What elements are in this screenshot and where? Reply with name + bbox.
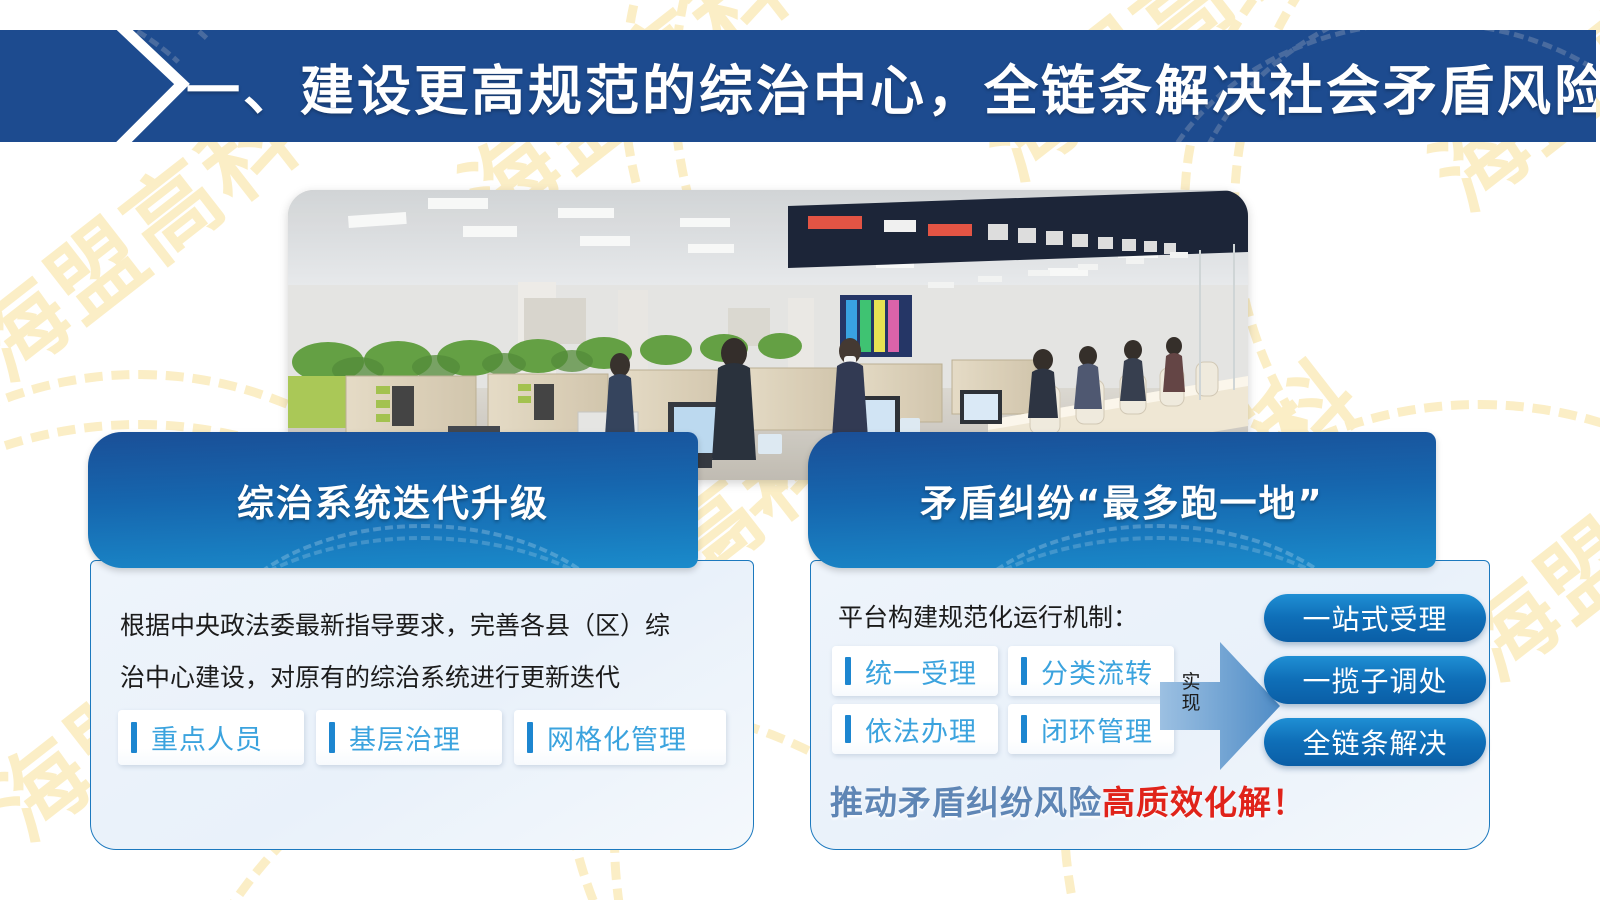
chip-key-personnel[interactable]: 重点人员 — [118, 710, 304, 765]
pill-label: 一站式受理 — [1302, 598, 1447, 638]
chip-accent-bar — [1021, 715, 1027, 743]
arrow-label: 实现 — [1180, 672, 1202, 714]
card-right: 矛盾纠纷“最多跑一地” 平台构建规范化运行机制： 统一受理 分类流转 依法办理 … — [808, 432, 1498, 852]
chip-lawful-handling[interactable]: 依法办理 — [832, 704, 998, 754]
right-arrow-icon — [1158, 640, 1282, 772]
pill-label: 全链条解决 — [1302, 722, 1447, 762]
pill-label: 一揽子调处 — [1302, 660, 1447, 700]
card-left-paragraph: 根据中央政法委最新指导要求，完善各县（区）综 治中心建设，对原有的综治系统进行更… — [120, 600, 728, 704]
chip-label: 依法办理 — [865, 710, 977, 749]
chip-label: 统一受理 — [865, 652, 977, 691]
chip-label: 基层治理 — [349, 718, 461, 757]
pill-one-stop-acceptance[interactable]: 一站式受理 — [1264, 594, 1486, 642]
chip-accent-bar — [1021, 657, 1027, 685]
slogan-accent: 高质效化解！ — [1102, 783, 1306, 822]
chip-accent-bar — [845, 657, 851, 685]
pill-package-mediation[interactable]: 一揽子调处 — [1264, 656, 1486, 704]
card-left-title: 综治系统迭代升级 — [237, 473, 549, 527]
chip-label: 分类流转 — [1041, 652, 1153, 691]
card-left-paragraph-line: 治中心建设，对原有的综治系统进行更新迭代 — [120, 652, 728, 704]
chip-accent-bar — [131, 722, 137, 753]
chip-label: 重点人员 — [151, 718, 263, 757]
chip-accent-bar — [845, 715, 851, 743]
chip-label: 闭环管理 — [1041, 710, 1153, 749]
card-left-paragraph-line: 根据中央政法委最新指导要求，完善各县（区）综 — [120, 600, 728, 652]
chip-classified-routing[interactable]: 分类流转 — [1008, 646, 1174, 696]
pill-full-chain-resolution[interactable]: 全链条解决 — [1264, 718, 1486, 766]
card-left: 综治系统迭代升级 根据中央政法委最新指导要求，完善各县（区）综 治中心建设，对原… — [88, 432, 756, 852]
card-right-lead: 平台构建规范化运行机制： — [838, 598, 1138, 638]
slogan-primary: 推动矛盾纠纷风险 — [830, 783, 1102, 822]
chip-accent-bar — [527, 722, 533, 753]
slide-header: 一、建设更高规范的综治中心，全链条解决社会矛盾风险 — [0, 30, 1596, 142]
chip-grassroots-governance[interactable]: 基层治理 — [316, 710, 502, 765]
chip-closed-loop-management[interactable]: 闭环管理 — [1008, 704, 1174, 754]
chip-label: 网格化管理 — [547, 718, 687, 757]
chip-accent-bar — [329, 722, 335, 753]
chip-grid-management[interactable]: 网格化管理 — [514, 710, 726, 765]
page-title: 一、建设更高规范的综治中心，全链条解决社会矛盾风险 — [186, 47, 1596, 126]
card-right-slogan: 推动矛盾纠纷风险高质效化解！ — [830, 776, 1306, 824]
chip-unified-acceptance[interactable]: 统一受理 — [832, 646, 998, 696]
card-left-header: 综治系统迭代升级 — [88, 432, 698, 568]
card-right-header: 矛盾纠纷“最多跑一地” — [808, 432, 1436, 568]
slide-canvas: 海盟高科 海盟高科 海盟高科 海盟高科 海盟高科 海盟高科 海盟高科 海盟高科 … — [0, 0, 1600, 900]
card-right-title: 矛盾纠纷“最多跑一地” — [920, 473, 1324, 527]
